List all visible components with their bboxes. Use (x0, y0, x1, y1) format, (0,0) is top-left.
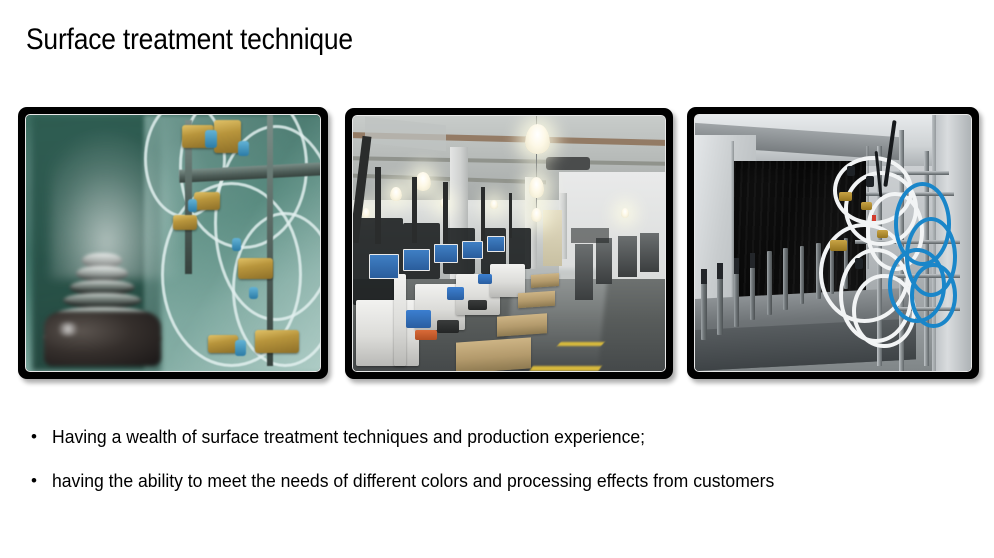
photo-factory-floor-scene (353, 116, 665, 371)
photo-spray-booth[interactable] (687, 107, 979, 379)
bullet-text: having the ability to meet the needs of … (52, 468, 774, 493)
list-item: • having the ability to meet the needs o… (28, 468, 958, 493)
photo-row (0, 0, 994, 400)
list-item: • Having a wealth of surface treatment t… (28, 424, 958, 449)
photo-spray-nozzles[interactable] (18, 107, 328, 379)
page-title: Surface treatment technique (26, 21, 353, 59)
bullet-text: Having a wealth of surface treatment tec… (52, 424, 645, 449)
photo-spray-nozzles-inner (25, 114, 321, 372)
bullet-marker-icon: • (28, 424, 52, 449)
photo-spray-nozzles-scene (26, 115, 320, 371)
photo-spray-booth-scene (695, 115, 971, 371)
slide-canvas: Surface treatment technique (0, 0, 994, 558)
photo-factory-floor-inner (352, 115, 666, 372)
bullet-list: • Having a wealth of surface treatment t… (28, 424, 958, 512)
photo-spray-booth-inner (694, 114, 972, 372)
photo-factory-floor[interactable] (345, 108, 673, 379)
bullet-marker-icon: • (28, 468, 52, 493)
